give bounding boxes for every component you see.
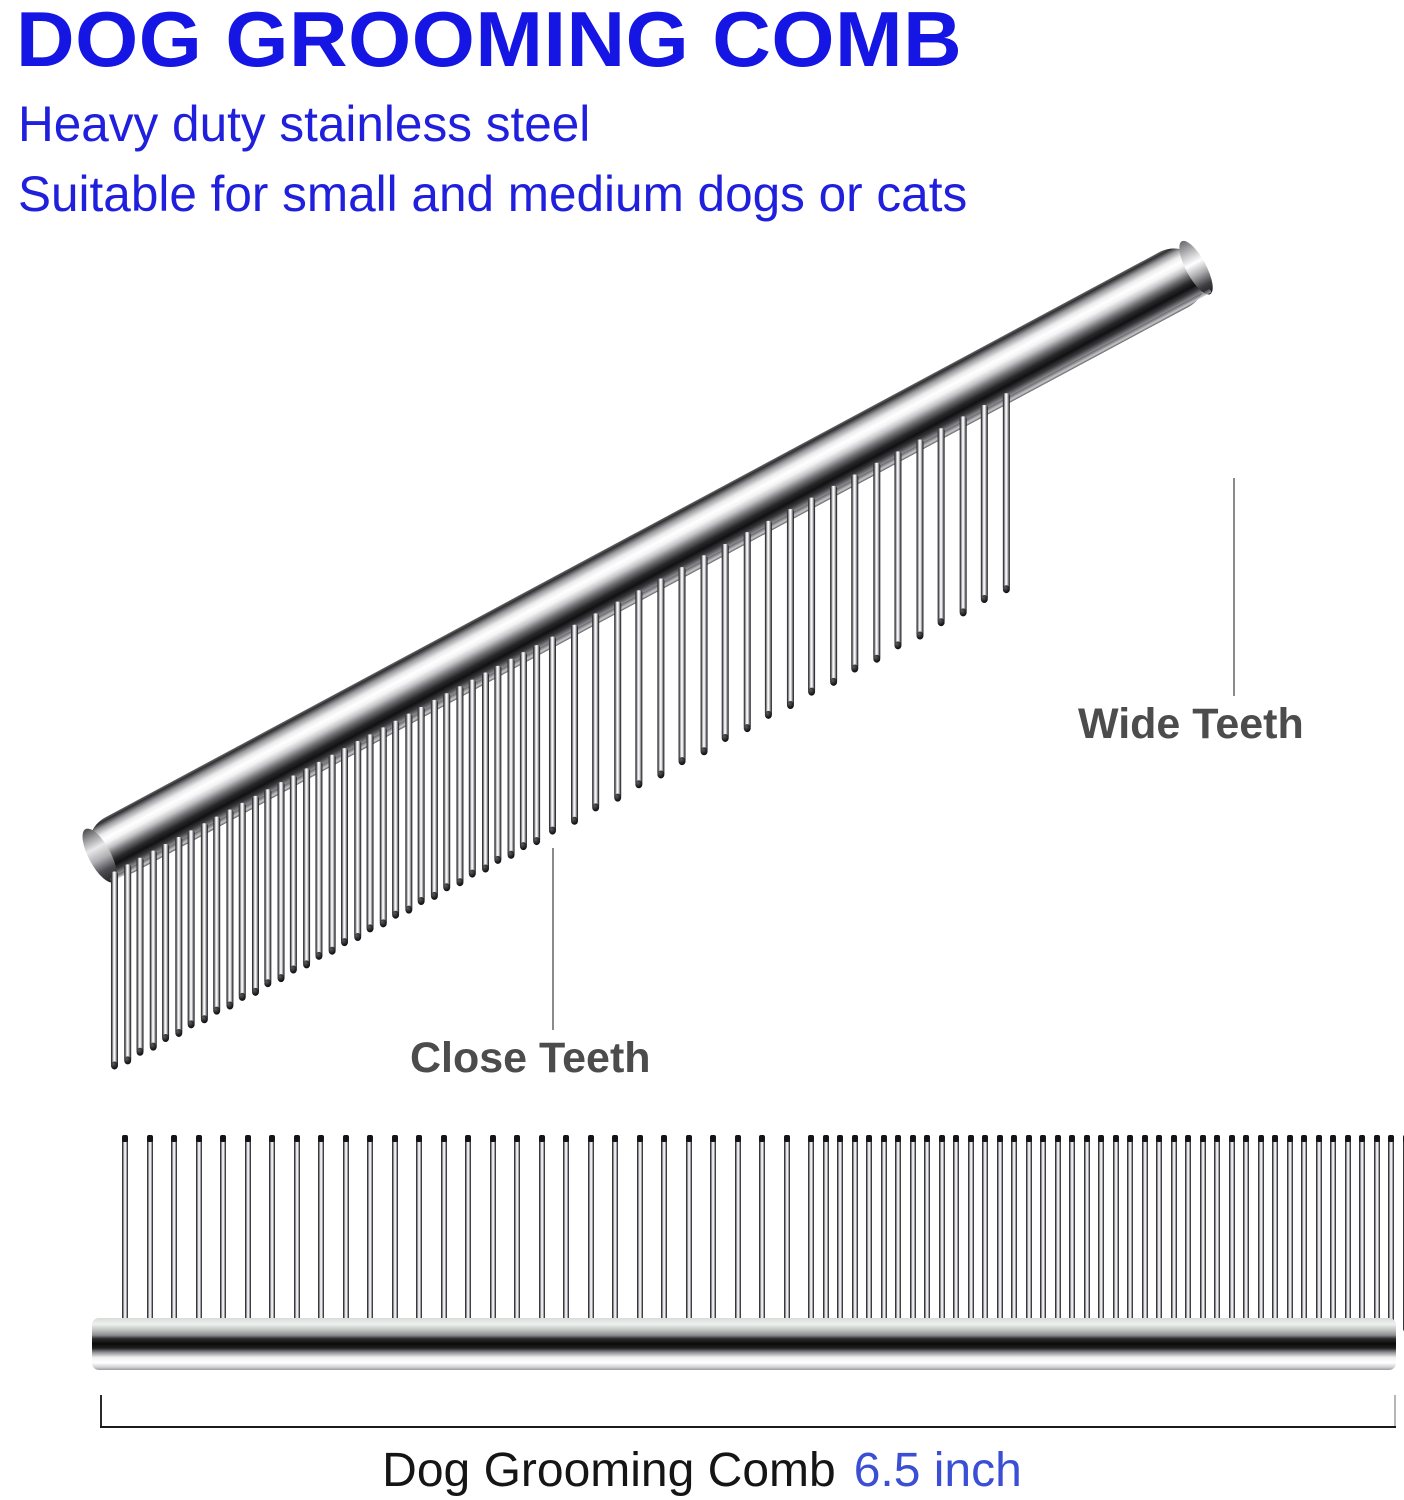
comb-tooth-wide [571, 625, 578, 823]
side-view-tooth-wide [122, 1136, 128, 1332]
side-view-tooth-wide [318, 1136, 324, 1332]
comb-tooth-close [315, 762, 322, 958]
side-view-tooth-close [852, 1136, 858, 1332]
comb-tooth-wide [808, 498, 815, 694]
comb-tooth-wide [873, 463, 880, 661]
side-view-tooth-close [1142, 1136, 1148, 1332]
side-view-tooth-close [1113, 1136, 1119, 1332]
comb-tooth-wide [743, 532, 750, 730]
side-view-tooth-wide [269, 1136, 275, 1332]
side-view-tooth-wide [441, 1136, 447, 1332]
side-view-tooth-wide [171, 1136, 177, 1332]
comb-tooth-close [482, 673, 489, 871]
side-view-tooth-wide [784, 1136, 790, 1332]
side-view-tooth-wide [735, 1136, 741, 1332]
side-view-tooth-close [1185, 1136, 1191, 1332]
side-view-tooth-close [1084, 1136, 1090, 1332]
comb-tooth-wide [959, 417, 966, 615]
comb-tooth-wide [981, 405, 988, 601]
side-view-tooth-close [1374, 1136, 1380, 1332]
comb-tooth-wide [786, 509, 793, 707]
comb-tooth-close [226, 810, 233, 1008]
side-view-tooth-wide [245, 1136, 251, 1332]
side-view-tooth-wide [294, 1136, 300, 1332]
side-view-tooth-close [1214, 1136, 1220, 1332]
side-view-tooth-wide [196, 1136, 202, 1332]
side-view-tooth-wide [588, 1136, 594, 1332]
comb-tooth-close [469, 680, 476, 876]
comb-tooth-close [149, 851, 156, 1049]
comb-tooth-wide [894, 451, 901, 647]
side-view-tooth-close [1301, 1136, 1307, 1332]
subtitle-line-1: Heavy duty stainless steel [18, 96, 590, 152]
side-view-tooth-close [1316, 1136, 1322, 1332]
side-view-tooth-close [866, 1136, 872, 1332]
comb-tooth-wide [916, 440, 923, 638]
comb-tooth-close [111, 871, 118, 1067]
side-view-tooth-close [924, 1136, 930, 1332]
side-view-tooth-close [1330, 1136, 1336, 1332]
side-view-tooth-close [1127, 1136, 1133, 1332]
comb-tooth-close [418, 707, 425, 903]
comb-tooth-wide [635, 590, 642, 786]
side-view-tooth-wide [612, 1136, 618, 1332]
comb-tooth-close [507, 659, 514, 857]
side-view-tooth-wide [343, 1136, 349, 1332]
side-view-tooth-close [1098, 1136, 1104, 1332]
comb-tooth-close [392, 721, 399, 917]
side-view-tooth-close [953, 1136, 959, 1332]
angled-comb-illustration [0, 0, 1404, 1100]
side-view-tooth-close [968, 1136, 974, 1332]
comb-tooth-close [200, 823, 207, 1021]
comb-tooth-close [303, 769, 310, 967]
comb-tooth-wide [722, 544, 729, 740]
side-view-tooth-wide [514, 1136, 520, 1332]
comb-tooth-close [175, 837, 182, 1035]
comb-tooth-wide [830, 486, 837, 684]
comb-tooth-close [124, 865, 131, 1063]
comb-tooth-close [341, 748, 348, 944]
side-view-tooth-close [1171, 1136, 1177, 1332]
side-view-tooth-close [837, 1136, 843, 1332]
comb-tooth-close [354, 741, 361, 939]
side-view-tooth-close [982, 1136, 988, 1332]
comb-tooth-wide [592, 613, 599, 809]
side-view-tooth-wide [661, 1136, 667, 1332]
wide-teeth-leader-line [1233, 478, 1235, 696]
dimension-tick-right [1394, 1395, 1396, 1427]
comb-tooth-close [239, 803, 246, 999]
side-view-tooth-close [1026, 1136, 1032, 1332]
comb-tooth-close [456, 686, 463, 884]
side-view-tooth-wide [637, 1136, 643, 1332]
side-view-tooth-close [895, 1136, 901, 1332]
side-view-tooth-close [997, 1136, 1003, 1332]
comb-tooth-close [137, 858, 144, 1054]
comb-tooth-close [188, 830, 195, 1026]
comb-tooth-close [213, 817, 220, 1013]
product-infographic: DOG GROOMING COMB Heavy duty stainless s… [0, 0, 1404, 1500]
comb-handle [78, 238, 1216, 887]
close-teeth-label: Close Teeth [410, 1034, 651, 1082]
subtitle-line-2: Suitable for small and medium dogs or ca… [18, 166, 967, 222]
comb-handle-seam [110, 289, 1212, 882]
side-view-tooth-close [1243, 1136, 1249, 1332]
dimension-bracket [100, 1426, 1396, 1428]
comb-tooth-close [443, 693, 450, 889]
comb-tooth-close [277, 782, 284, 980]
comb-handle-left-cap [76, 824, 124, 887]
comb-teeth-group [103, 283, 1335, 1107]
side-view-tooth-close [1011, 1136, 1017, 1332]
comb-body [78, 238, 1338, 1114]
side-view-tooth-close [1040, 1136, 1046, 1332]
comb-tooth-close [264, 789, 271, 985]
side-view-tooth-close [881, 1136, 887, 1332]
side-view-tooth-close [1388, 1136, 1394, 1332]
dimension-caption-name: Dog Grooming Comb [382, 1444, 836, 1497]
side-view-tooth-close [1200, 1136, 1206, 1332]
side-view-tooth-close [910, 1136, 916, 1332]
side-view-tooth-wide [465, 1136, 471, 1332]
dimension-caption-size: 6.5 inch [854, 1444, 1022, 1497]
comb-tooth-close [162, 844, 169, 1040]
comb-tooth-wide [765, 521, 772, 717]
comb-tooth-wide [700, 556, 707, 754]
comb-tooth-close [520, 652, 527, 848]
side-view-tooth-wide [220, 1136, 226, 1332]
close-teeth-leader-line [552, 848, 554, 1030]
side-view-spine-bar [92, 1318, 1396, 1370]
side-view-tooth-close [939, 1136, 945, 1332]
comb-handle-right-cap [1173, 237, 1219, 299]
side-view-tooth-wide [490, 1136, 496, 1332]
comb-tooth-wide [851, 475, 858, 671]
dimension-caption: Dog Grooming Comb6.5 inch [0, 1444, 1404, 1498]
comb-tooth-close [430, 700, 437, 898]
side-view-tooth-close [1287, 1136, 1293, 1332]
side-view-comb-illustration [0, 0, 1404, 1500]
side-view-tooth-wide [416, 1136, 422, 1332]
side-view-tooth-wide [686, 1136, 692, 1332]
comb-tooth-close [290, 776, 297, 972]
side-view-tooth-close [1258, 1136, 1264, 1332]
comb-tooth-wide [679, 567, 686, 763]
side-view-tooth-close [1345, 1136, 1351, 1332]
side-view-tooth-close [823, 1136, 829, 1332]
page-title: DOG GROOMING COMB [16, 0, 962, 82]
side-view-tooth-wide [392, 1136, 398, 1332]
comb-tooth-wide [657, 579, 664, 777]
comb-tooth-wide [938, 428, 945, 624]
dimension-tick-left [100, 1395, 102, 1427]
comb-tooth-close [252, 796, 259, 994]
side-view-tooth-wide [563, 1136, 569, 1332]
side-view-tooth-wide [759, 1136, 765, 1332]
comb-tooth-wide [549, 637, 556, 833]
side-view-tooth-wide [367, 1136, 373, 1332]
side-view-tooth-close [808, 1136, 814, 1332]
comb-tooth-wide [1002, 393, 1009, 591]
side-view-tooth-close [1156, 1136, 1162, 1332]
side-view-tooth-wide [710, 1136, 716, 1332]
comb-tooth-close [379, 728, 386, 926]
side-view-tooth-close [1055, 1136, 1061, 1332]
side-view-tooth-wide [147, 1136, 153, 1332]
side-view-tooth-close [1069, 1136, 1075, 1332]
comb-tooth-close [328, 755, 335, 953]
comb-tooth-wide [614, 602, 621, 800]
comb-tooth-close [405, 714, 412, 912]
comb-tooth-close [533, 645, 540, 843]
comb-tooth-close [367, 734, 374, 930]
side-view-tooth-close [1229, 1136, 1235, 1332]
comb-tooth-close [494, 666, 501, 862]
wide-teeth-label: Wide Teeth [1078, 700, 1304, 748]
side-view-tooth-wide [539, 1136, 545, 1332]
side-view-tooth-close [1359, 1136, 1365, 1332]
side-view-tooth-close [1272, 1136, 1278, 1332]
